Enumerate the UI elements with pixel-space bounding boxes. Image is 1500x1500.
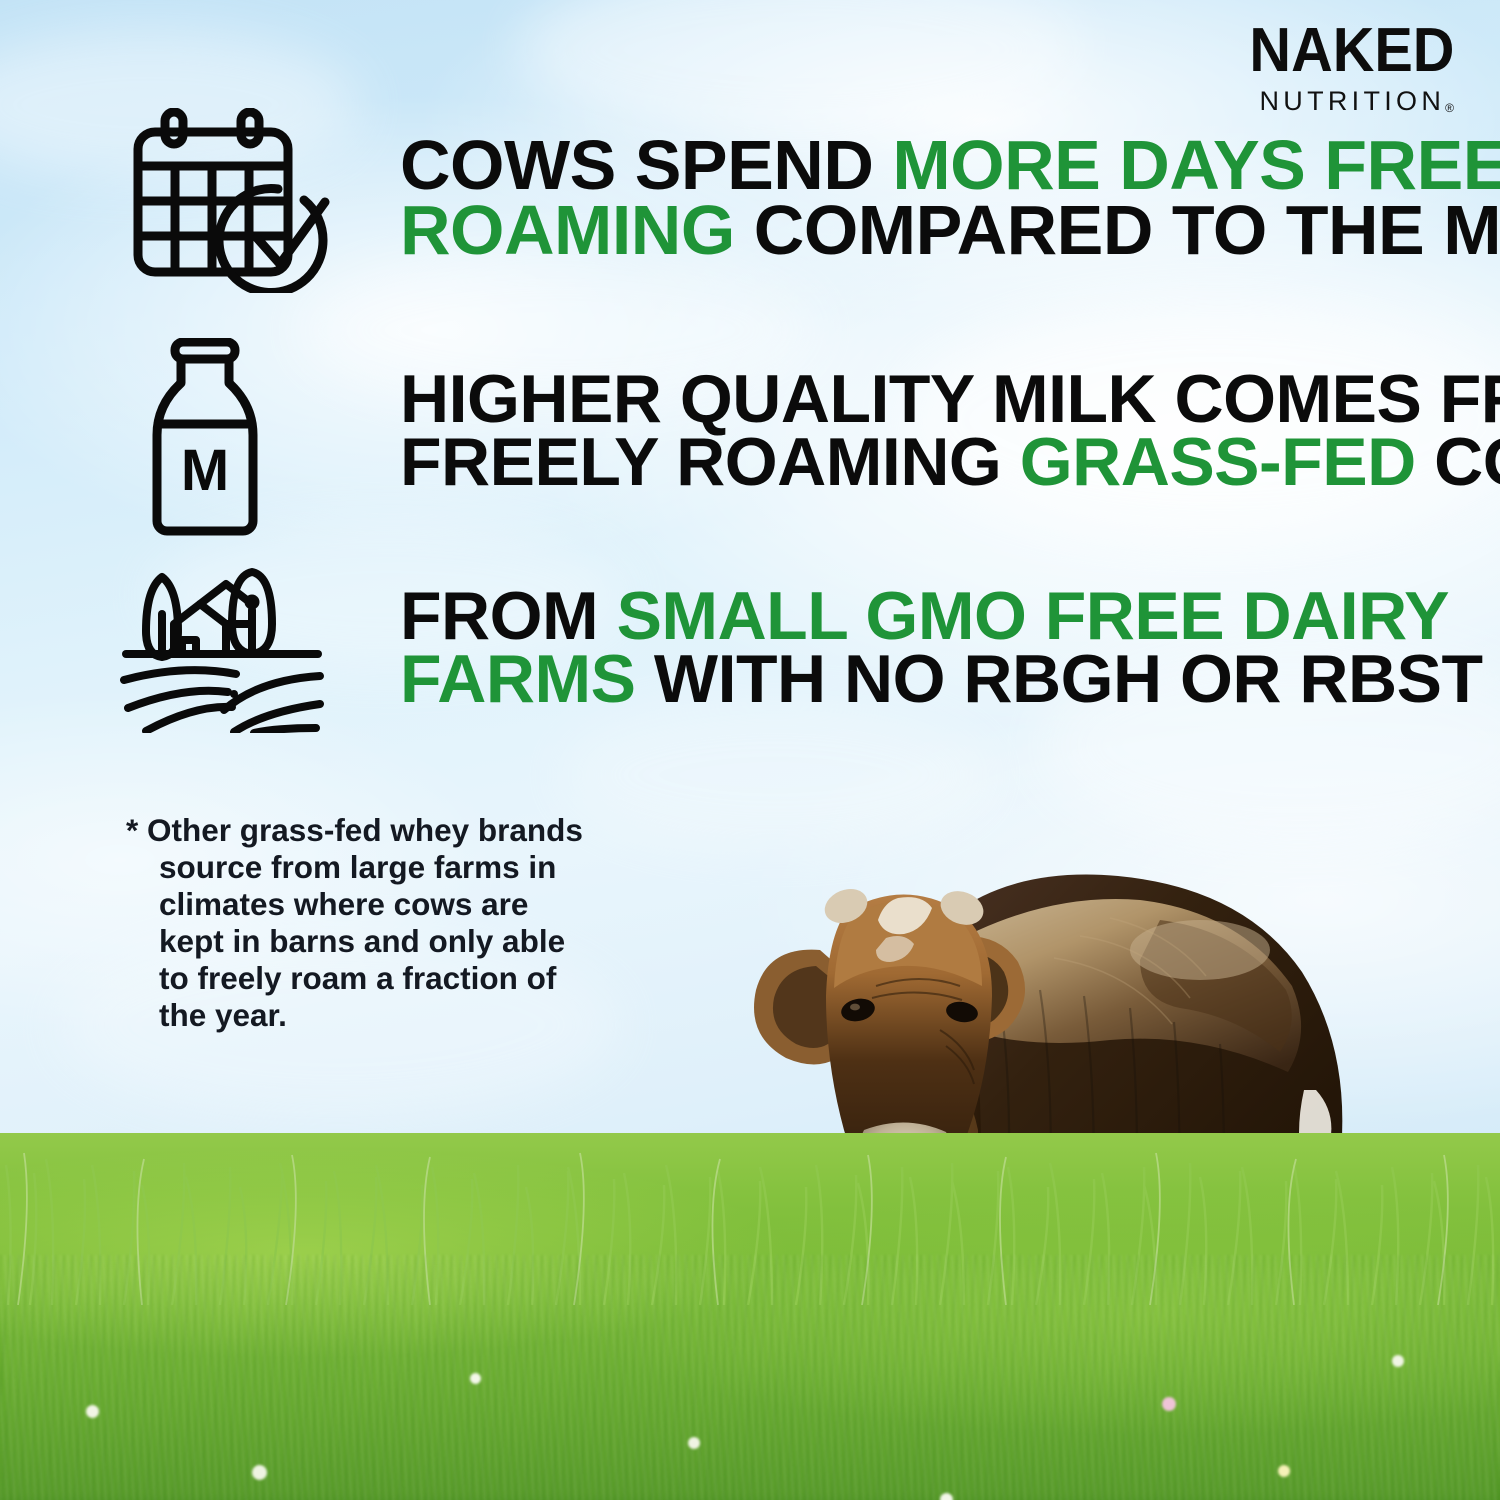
footnote-text: * Other grass-fed whey brands source fro…	[126, 812, 596, 1034]
headline-1-black-b: COMPARED TO THE MIDWEST*	[735, 191, 1500, 269]
brand-tagline: NUTRITION®	[1234, 86, 1454, 117]
headline-3-line-2: FARMS WITH NO RBGH OR RBST	[400, 641, 1483, 717]
brand-logo: NAKED NUTRITION®	[1234, 22, 1454, 117]
brand-name: NAKED	[1249, 22, 1454, 81]
headline-2-black-b: FREELY ROAMING	[400, 424, 1020, 500]
brand-tagline-text: NUTRITION	[1259, 86, 1445, 116]
headline-higher-quality-milk: HIGHER QUALITY MILK COMES FROM FREELY RO…	[400, 368, 1460, 494]
headline-2-line-2: FREELY ROAMING GRASS-FED COWS	[400, 424, 1500, 500]
registered-trademark-symbol: ®	[1445, 101, 1454, 115]
headline-2-black-c: COWS	[1416, 424, 1500, 500]
headline-3-green-b: FARMS	[400, 641, 636, 717]
headline-gmo-free-dairy: FROM SMALL GMO FREE DAIRY FARMS WITH NO …	[400, 585, 1460, 711]
headline-1-line-2: ROAMING COMPARED TO THE MIDWEST*	[400, 191, 1500, 269]
calendar-check-icon	[128, 108, 333, 293]
grass-field	[0, 1105, 1500, 1500]
farm-field-icon	[120, 568, 325, 733]
infographic-canvas: NAKED NUTRITION®	[0, 0, 1500, 1500]
footnote: * Other grass-fed whey brands source fro…	[126, 812, 596, 1034]
headline-2-green: GRASS-FED	[1020, 424, 1416, 500]
headline-3-black-b: WITH NO RBGH OR RBST	[636, 641, 1483, 717]
headline-1-green-b: ROAMING	[400, 191, 735, 269]
milk-bottle-letter: M	[181, 438, 229, 503]
milk-bottle-icon: M	[145, 338, 265, 538]
headline-cows-roaming: COWS SPEND MORE DAYS FREELY ROAMING COMP…	[400, 133, 1460, 263]
